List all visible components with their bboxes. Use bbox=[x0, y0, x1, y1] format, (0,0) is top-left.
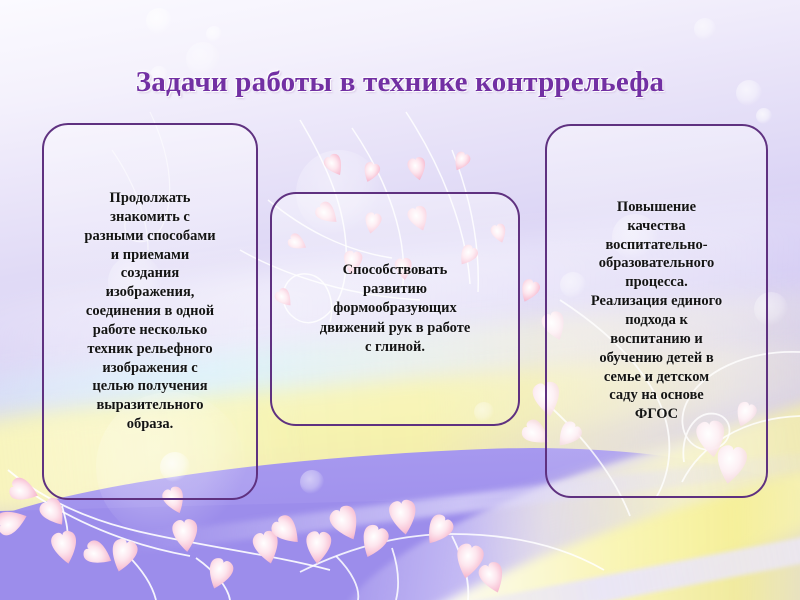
objective-card-2[interactable]: Способствовать развитию формообразующих … bbox=[270, 192, 520, 426]
bokeh-circle bbox=[756, 108, 772, 124]
objective-card-1-text: Продолжать знакомить с разными способами… bbox=[75, 189, 224, 434]
objective-card-2-text: Способствовать развитию формообразующих … bbox=[311, 261, 480, 357]
vine-petals-bottom-middle bbox=[251, 499, 509, 597]
objective-card-3[interactable]: Повышение качества воспитательно- образо… bbox=[545, 124, 768, 498]
presentation-slide: Задачи работы в технике контррельефа Про… bbox=[0, 0, 800, 600]
objective-card-1[interactable]: Продолжать знакомить с разными способами… bbox=[42, 123, 258, 500]
vine-swirl-bottom-middle bbox=[300, 534, 604, 600]
ribbon-highlight-stripe-1 bbox=[363, 508, 800, 600]
slide-title: Задачи работы в технике контррельефа bbox=[0, 66, 800, 99]
bokeh-circle bbox=[300, 470, 324, 494]
bokeh-circle bbox=[206, 26, 222, 42]
bokeh-circle bbox=[694, 18, 716, 40]
objective-card-3-text: Повышение качества воспитательно- образо… bbox=[582, 198, 731, 424]
bottom-purple-ribbon-fill bbox=[0, 488, 800, 600]
bokeh-circle bbox=[146, 8, 172, 34]
